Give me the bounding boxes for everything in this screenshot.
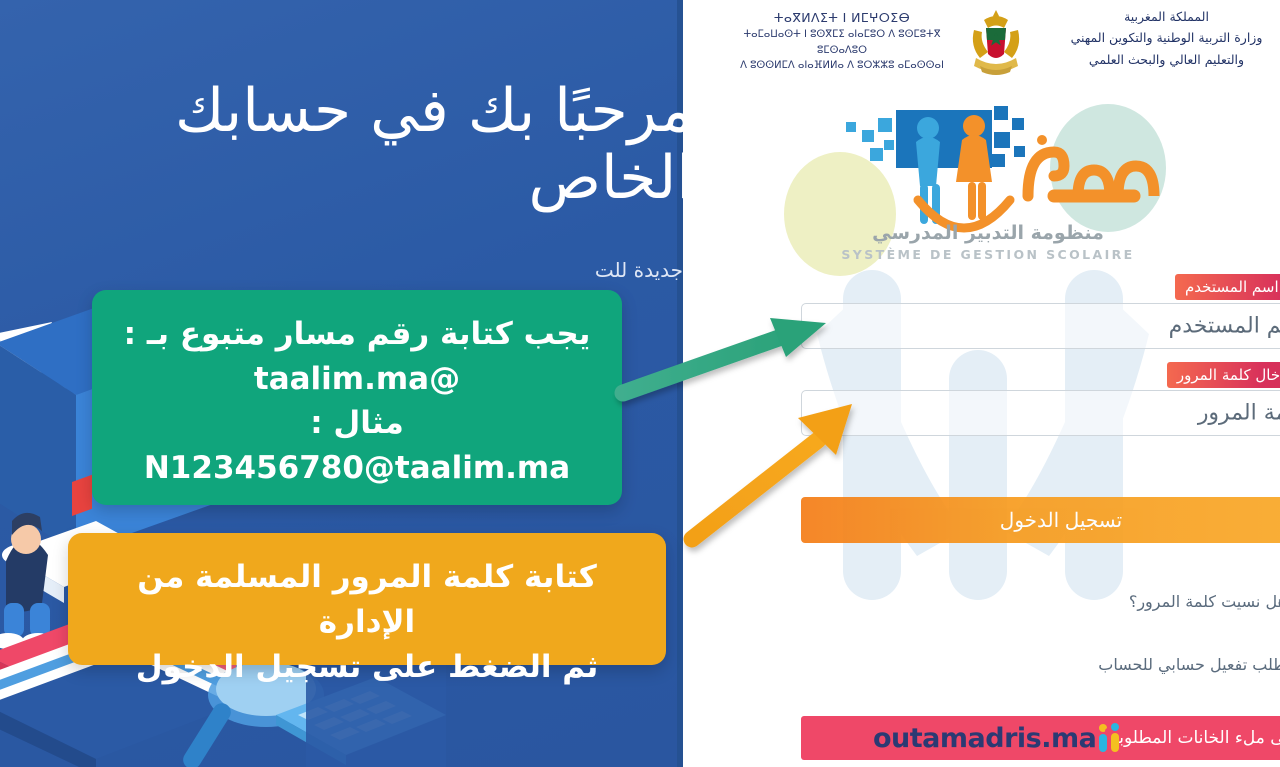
activate-account-link[interactable]: طلب تفعيل حسابي للحساب — [1098, 655, 1280, 674]
footer-notice-text: يرجى ملء الخانات المطلوبة — [1110, 728, 1280, 748]
welcome-subnote: جديدة للت — [0, 258, 683, 282]
callout-password-hint: كتابة كلمة المرور المسلمة من الإدارة ثم … — [68, 533, 666, 665]
login-button[interactable]: تسجيل الدخول — [801, 497, 1280, 543]
moutamadris-people-icon — [1096, 722, 1126, 754]
username-input[interactable]: اسم المستخدم — [801, 303, 1280, 349]
callout-orange-line1: كتابة كلمة المرور المسلمة من الإدارة — [92, 555, 642, 645]
username-input-label: اسم المستخدم — [1169, 314, 1280, 339]
welcome-title: مرحبًا بك في حسابك الخاص — [0, 78, 683, 212]
callout-username-hint: يجب كتابة رقم مسار متبوع بـ : @taalim.ma… — [92, 290, 622, 505]
forgot-password-link[interactable]: هل نسيت كلمة المرور؟ — [1129, 592, 1280, 611]
callout-green-line2: @taalim.ma — [118, 357, 596, 402]
callout-green-line3: مثال : — [118, 401, 596, 446]
left-info-panel: مرحبًا بك في حسابك الخاص جديدة للت — [0, 0, 683, 767]
screenshot-root: مرحبًا بك في حسابك الخاص جديدة للت — [0, 0, 1280, 767]
username-validation-chip: يرجى إدخال اسم المستخدم — [1175, 274, 1280, 300]
callout-green-line4: N123456780@taalim.ma — [118, 446, 596, 491]
password-validation-chip: يرجى إدخال كلمة المرور — [1167, 362, 1280, 388]
password-input[interactable]: كلمة المرور — [801, 390, 1280, 436]
moutamadris-wordmark: outamadris.ma — [873, 723, 1096, 754]
login-form: يرجى إدخال اسم المستخدم اسم المستخدم يرج… — [683, 0, 1280, 767]
callout-orange-line2: ثم الضغط على تسجيل الدخول — [92, 645, 642, 690]
footer-notice-bar: يرجى ملء الخانات المطلوبة outamadris.ma — [801, 716, 1280, 760]
callout-green-line1: يجب كتابة رقم مسار متبوع بـ : — [118, 312, 596, 357]
login-panel: ⵜⴰⴳⵍⴷⵉⵜ ⵏ ⵍⵎⵖⵔⵉⴱ ⵜⴰⵎⴰⵡⴰⵙⵜ ⵏ ⵓⵙⴳⵎⵉ ⴰⵏⴰⵎⵓⵔ… — [683, 0, 1280, 767]
password-input-label: كلمة المرور — [1198, 401, 1280, 426]
moutamadris-brand[interactable]: outamadris.ma — [873, 722, 1126, 754]
